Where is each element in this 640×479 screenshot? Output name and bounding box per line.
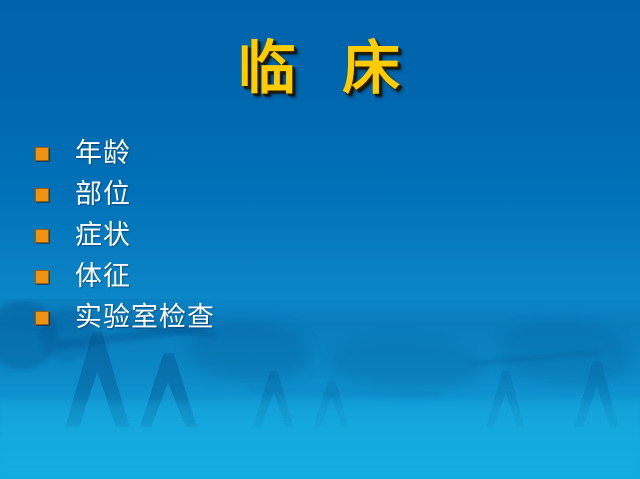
list-item: 症状 [28,215,588,256]
square-bullet-icon [35,270,49,284]
watermark-beam [470,349,600,366]
derrick-silhouette-icon [26,331,166,427]
square-bullet-icon [35,311,49,325]
bullet-list: 年龄 部位 症状 体征 实验室检查 [28,133,588,338]
square-bullet-icon [35,229,49,243]
derrick-silhouette-icon [300,381,362,427]
derrick-silhouette-icon [470,371,540,427]
derrick-silhouette-icon [112,353,224,427]
list-item: 部位 [28,174,588,215]
list-item-label: 实验室检查 [75,303,215,333]
derrick-silhouette-icon [236,371,310,427]
list-item-label: 症状 [75,221,131,251]
list-item-label: 体征 [75,262,131,292]
slide-title: 临 床 [0,36,640,100]
watermark-ground-band [0,401,640,479]
square-bullet-icon [35,147,49,161]
watermark-blob [330,339,480,393]
derrick-silhouette-icon [556,361,636,427]
list-item: 实验室检查 [28,297,588,338]
list-item-label: 年龄 [75,139,131,169]
list-item: 年龄 [28,133,588,174]
square-bullet-icon [35,188,49,202]
list-item: 体征 [28,256,588,297]
presentation-slide: 临 床 年龄 部位 症状 体征 实验室检查 [0,0,640,479]
list-item-label: 部位 [75,180,131,210]
watermark-beam [250,388,440,398]
